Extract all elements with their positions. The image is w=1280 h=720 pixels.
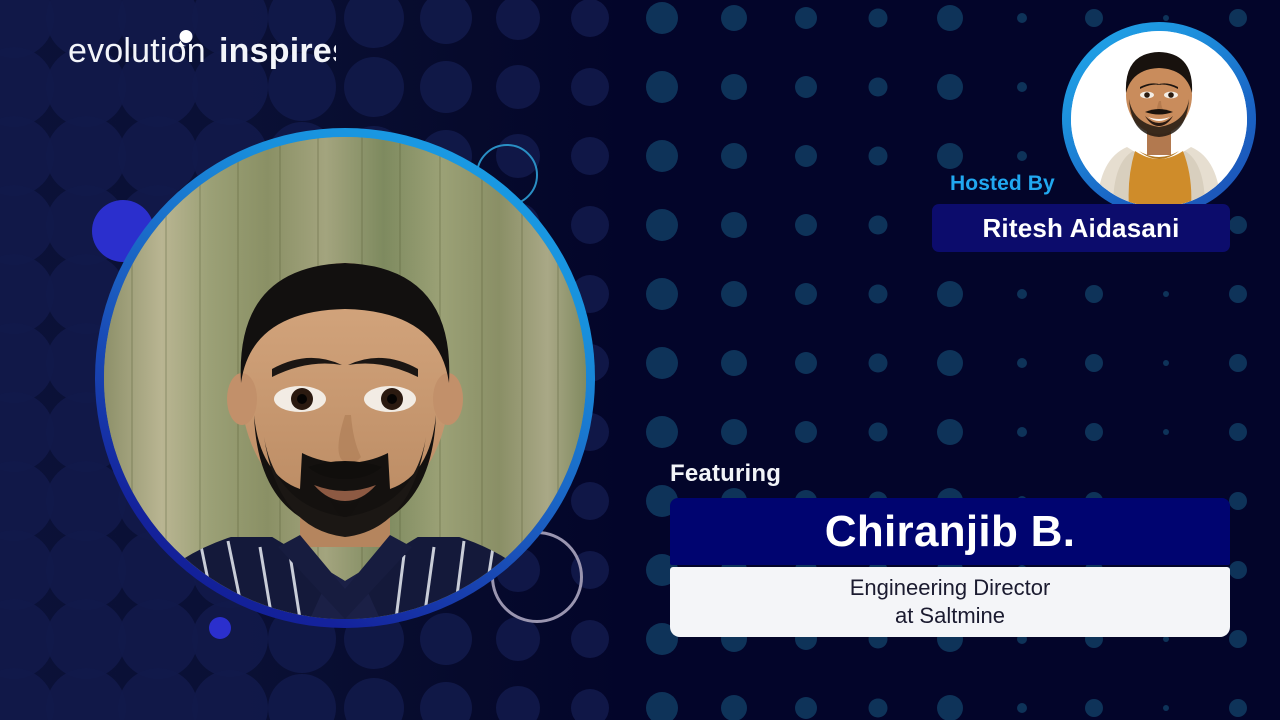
- speaker-name: Chiranjib B.: [825, 507, 1076, 557]
- host-name-bar: Ritesh Aidasani: [932, 204, 1230, 252]
- filled-circle-icon: [209, 617, 231, 639]
- hosted-by-block: Hosted By Ritesh Aidasani: [932, 172, 1230, 252]
- featuring-label: Featuring: [670, 460, 1230, 488]
- brand-logo: evolution inspires: [68, 28, 336, 74]
- speaker-portrait-photo: [104, 137, 586, 619]
- logo-word-inspires: inspires: [219, 32, 336, 70]
- speaker-name-bar: Chiranjib B.: [670, 498, 1230, 565]
- speaker-photo-illustration: [104, 137, 586, 619]
- speaker-title-bar: Engineering Director at Saltmine: [670, 567, 1230, 637]
- evolution-inspires-wordmark: evolution inspires: [68, 28, 336, 74]
- speaker-announcement-card: evolution inspires: [0, 0, 1280, 720]
- speaker-title-line-2: at Saltmine: [895, 602, 1005, 630]
- host-name: Ritesh Aidasani: [982, 213, 1179, 244]
- hosted-by-label: Hosted By: [932, 172, 1230, 196]
- speaker-title-line-1: Engineering Director: [850, 574, 1051, 602]
- speaker-portrait: [95, 128, 595, 628]
- featuring-block: Featuring Chiranjib B. Engineering Direc…: [670, 460, 1230, 637]
